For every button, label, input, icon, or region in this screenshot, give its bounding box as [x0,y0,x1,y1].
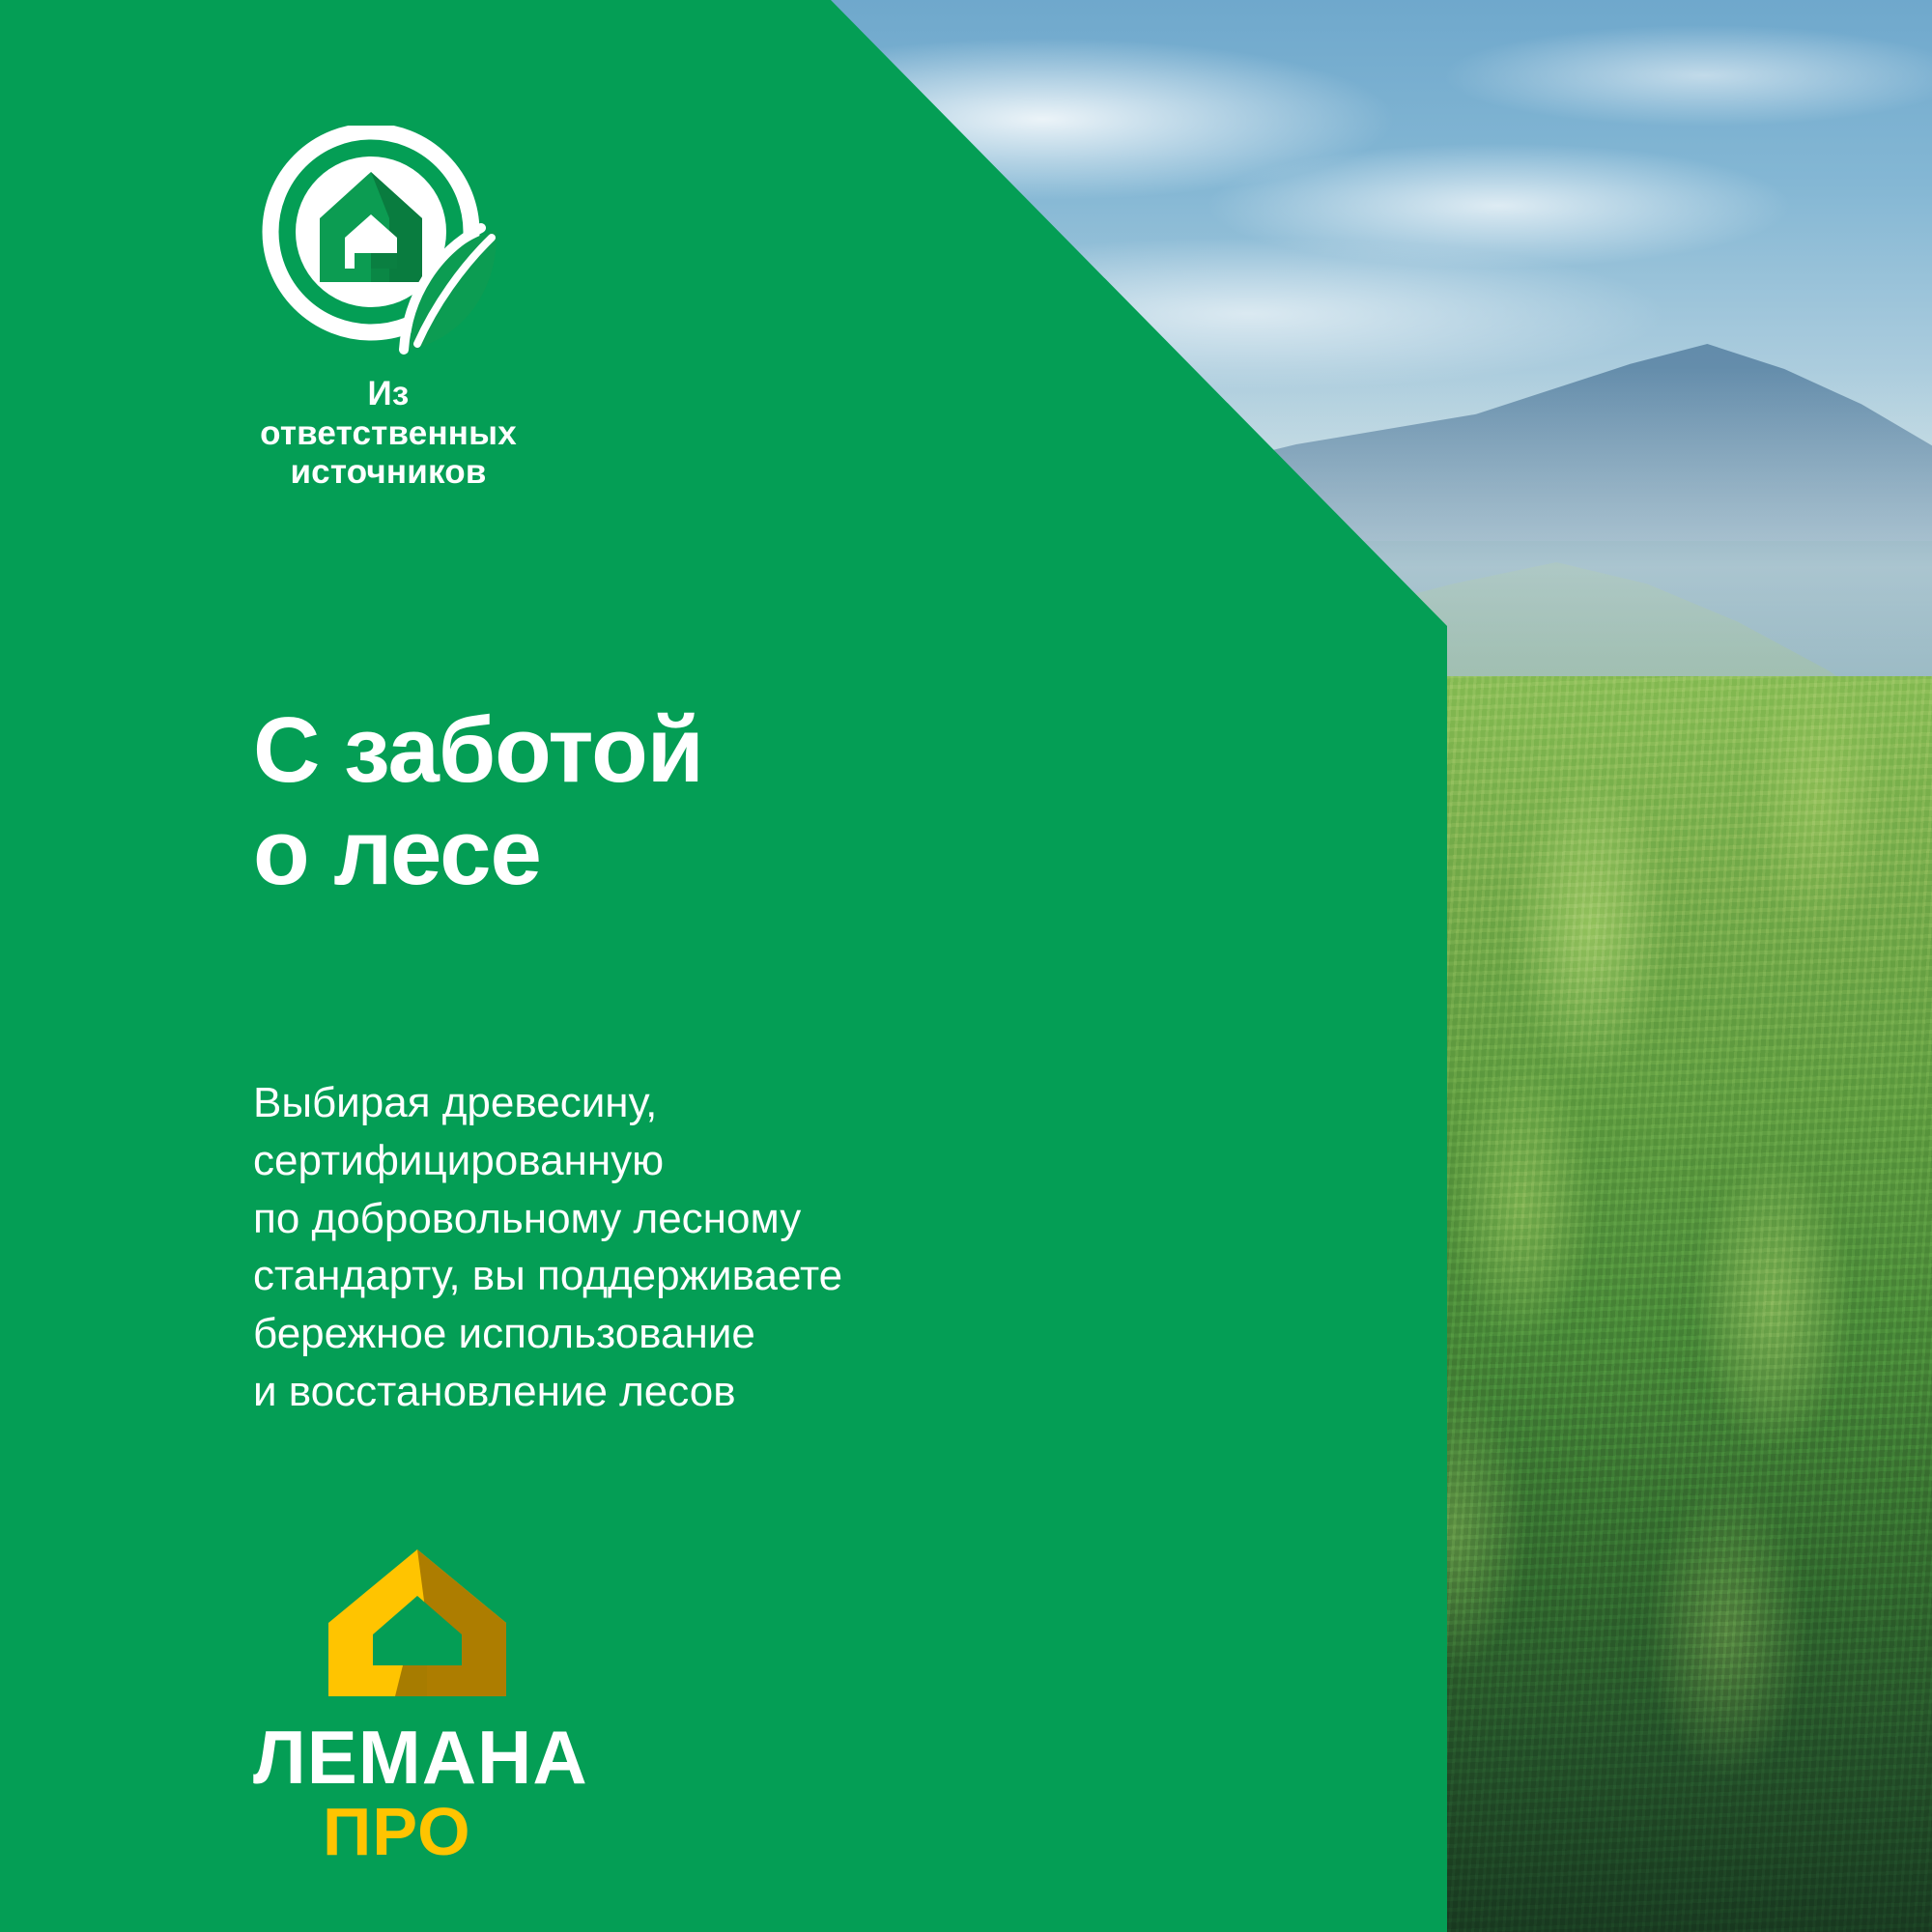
eco-house-leaf-circle-icon [257,126,516,357]
brand-lockup: ЛЕМАНА ПРО [253,1546,639,1864]
brand-suffix: ПРО [323,1800,639,1864]
leman-pro-house-icon [303,1546,531,1700]
promo-poster: Из ответственных источников С заботой о … [0,0,1932,1932]
page-title: С заботой о лесе [253,699,703,903]
badge-caption: Из ответственных источников [236,375,541,493]
responsible-sources-badge: Из ответственных источников [249,126,578,493]
poster-content: Из ответственных источников С заботой о … [0,0,1932,1932]
brand-name: ЛЕМАНА [253,1721,639,1794]
body-paragraph: Выбирая древесину, сертифицированную по … [253,1074,842,1421]
